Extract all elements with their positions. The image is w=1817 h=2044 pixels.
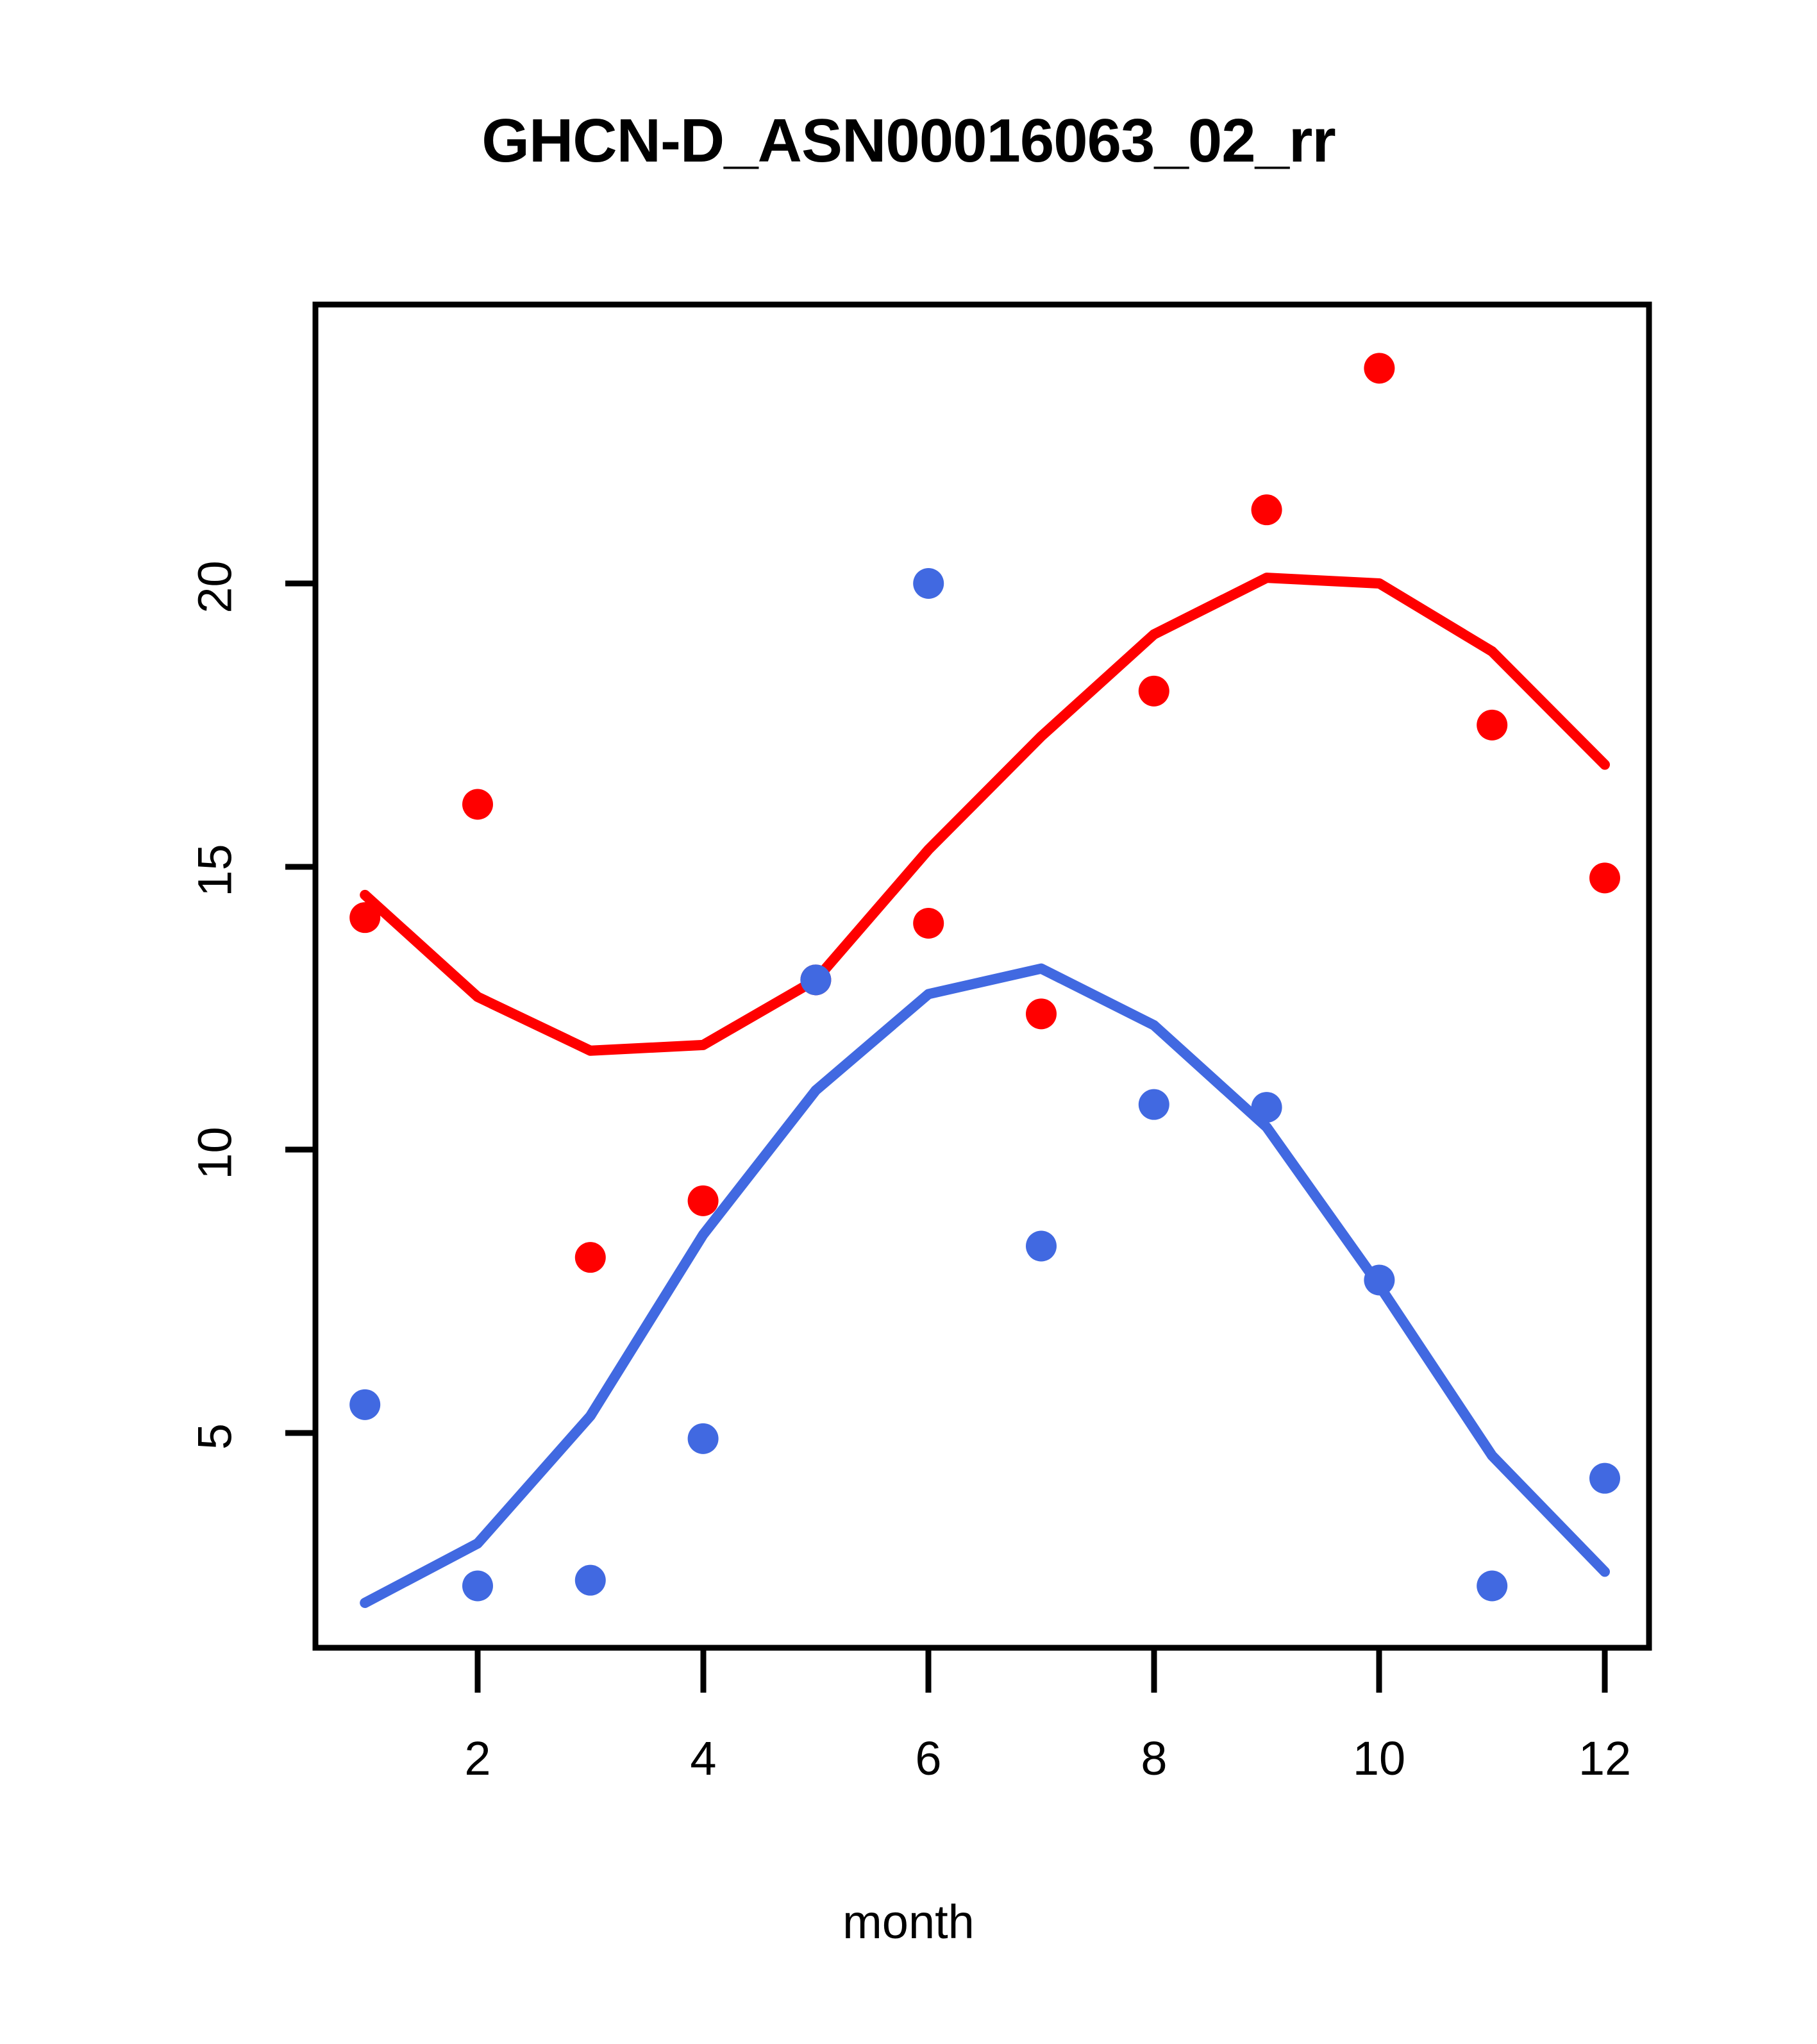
- data-point: [913, 568, 944, 599]
- data-point: [349, 1389, 380, 1420]
- data-point: [1252, 494, 1282, 525]
- x-tick-label-10: 10: [1315, 1731, 1443, 1786]
- data-point: [1589, 862, 1620, 893]
- plot-box-frame: [315, 305, 1649, 1648]
- data-point: [462, 1571, 493, 1602]
- data-point: [1139, 1089, 1169, 1120]
- data-point: [1252, 1092, 1282, 1123]
- y-tick-label-5: 5: [188, 1386, 242, 1488]
- trend-line-blue-smooth: [365, 969, 1605, 1603]
- data-point: [1364, 353, 1394, 383]
- y-tick-label-15: 15: [188, 819, 242, 922]
- y-axis-ticks: [285, 583, 315, 1433]
- series-lines: [365, 578, 1605, 1603]
- data-point: [1477, 710, 1507, 741]
- x-tick-label-4: 4: [639, 1731, 767, 1786]
- data-point: [688, 1185, 719, 1216]
- x-tick-label-2: 2: [414, 1731, 542, 1786]
- data-point: [1139, 676, 1169, 707]
- x-axis-ticks: [478, 1648, 1605, 1693]
- x-axis-label: month: [0, 1895, 1817, 1949]
- x-tick-label-6: 6: [864, 1731, 992, 1786]
- x-tick-label-8: 8: [1090, 1731, 1218, 1786]
- data-point: [1026, 1231, 1057, 1262]
- y-tick-label-20: 20: [188, 536, 242, 639]
- data-point: [349, 902, 380, 933]
- data-point: [800, 964, 831, 995]
- data-point: [1589, 1463, 1620, 1494]
- data-point: [688, 1423, 719, 1454]
- data-point: [462, 789, 493, 820]
- y-tick-label-10: 10: [188, 1102, 242, 1205]
- data-point: [913, 908, 944, 939]
- data-point: [575, 1565, 606, 1596]
- data-point: [1026, 998, 1057, 1029]
- x-tick-label-12: 12: [1541, 1731, 1669, 1786]
- data-point: [1477, 1571, 1507, 1602]
- data-point: [1364, 1265, 1394, 1296]
- chart-canvas: GHCN-D_ASN00016063_02_rr 20 15 10 5 2 4 …: [0, 0, 1817, 2044]
- data-point: [575, 1242, 606, 1273]
